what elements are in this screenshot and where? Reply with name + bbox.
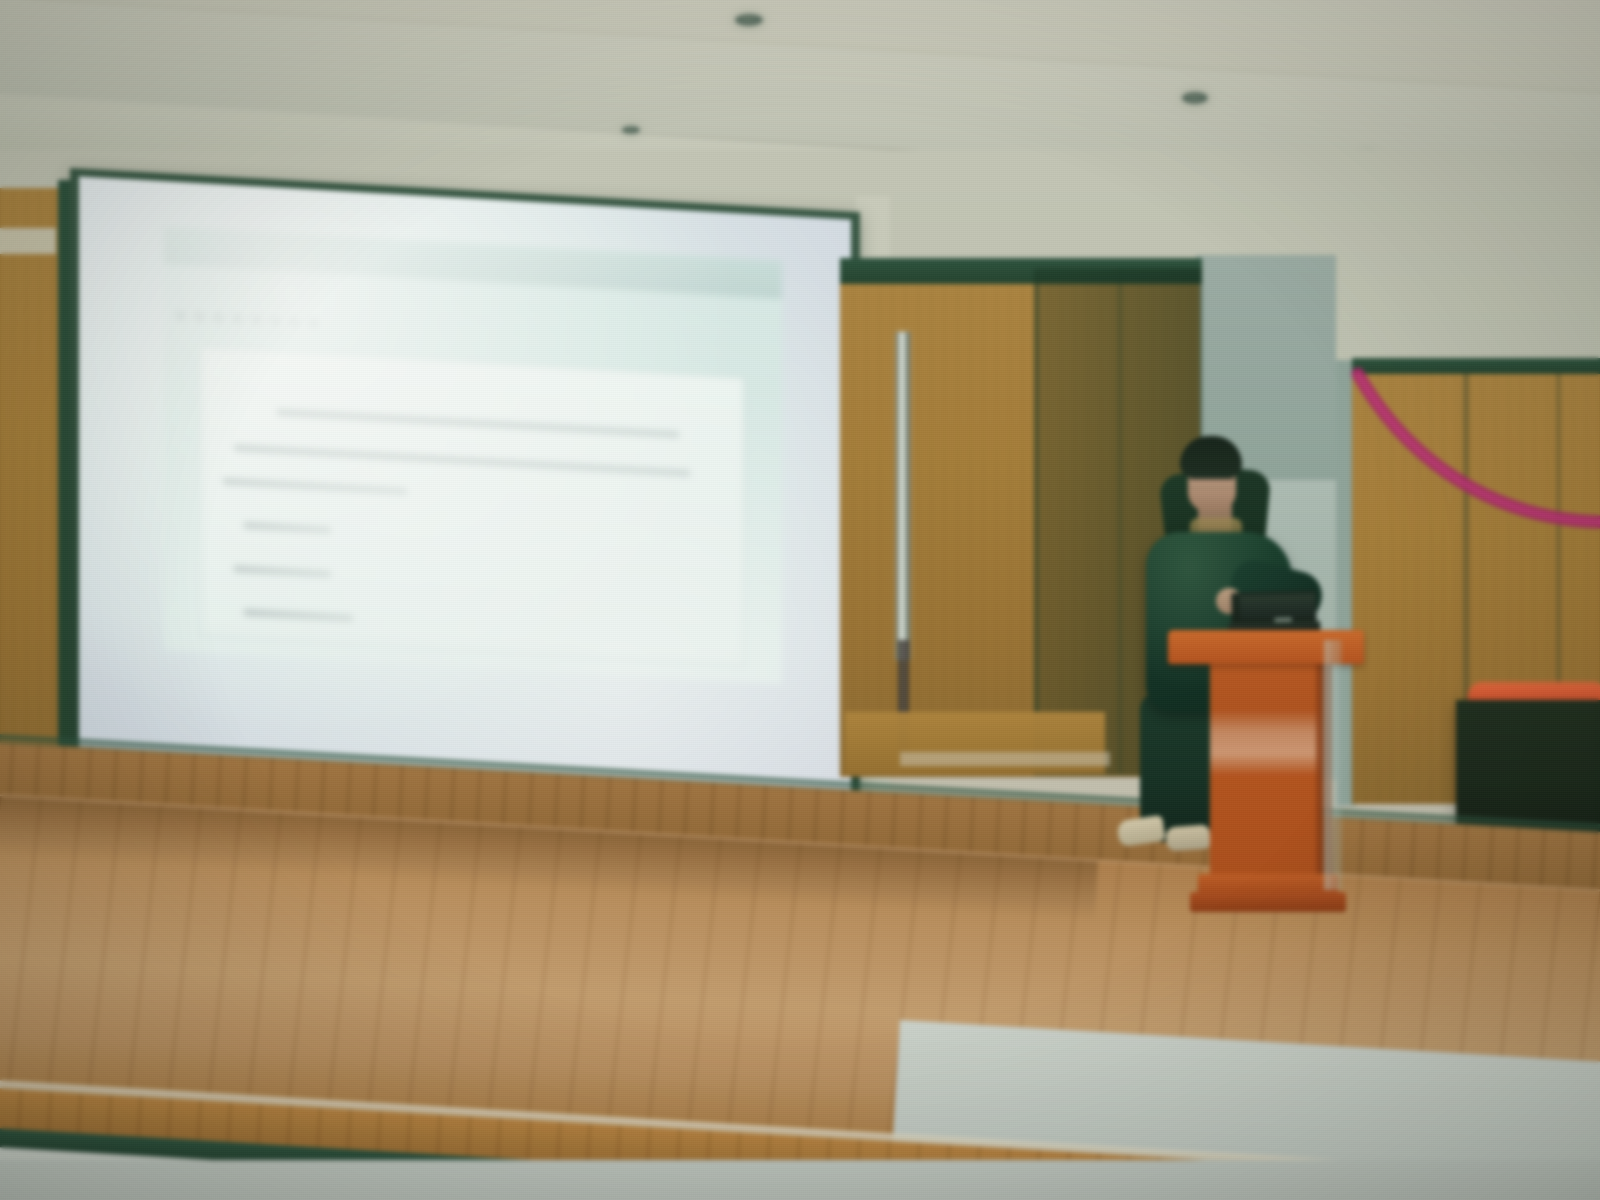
toolbar-icon: [176, 311, 185, 321]
toolbar-icon: [271, 317, 280, 327]
toolbar-icon: [214, 313, 223, 323]
garland-decoration: [1356, 372, 1600, 542]
plinth-light-strip: [900, 752, 1110, 766]
downlight-icon: [1182, 92, 1208, 104]
projected-app-window: [164, 226, 782, 684]
toolbar-icon: [233, 314, 242, 324]
lectern-base-lower: [1190, 892, 1346, 912]
glasses-icon: [1189, 478, 1235, 488]
presenter-hair: [1180, 436, 1242, 478]
downlight-icon: [735, 14, 763, 26]
document-text-line: [223, 478, 408, 495]
presenter-shoe-left: [1116, 815, 1165, 847]
wood-panel-left: [0, 188, 60, 818]
toolbar-icon: [252, 316, 261, 326]
projected-document-page: [201, 347, 744, 666]
wall-slot-upper-left: [0, 228, 56, 254]
lectern-glass-panel: [1324, 640, 1342, 890]
toolbar-icon: [309, 319, 318, 329]
downlight-icon: [622, 126, 640, 134]
laptop-screen: [1240, 594, 1317, 620]
hall-floor-foreground: [0, 1160, 1600, 1200]
toolbar-icon: [290, 318, 299, 328]
document-text-line: [244, 522, 331, 534]
green-trim-left: [58, 180, 70, 828]
document-text-line: [234, 444, 691, 477]
lectern-body: [1210, 662, 1322, 880]
wood-panel-seam: [1034, 272, 1039, 772]
toolbar-icon: [195, 312, 204, 322]
document-text-line: [234, 565, 332, 577]
document-text-line: [277, 409, 679, 438]
auditorium-photo: [0, 0, 1600, 1200]
lectern: [1168, 630, 1364, 912]
laptop-highlight: [1274, 618, 1292, 622]
document-text-line: [244, 609, 353, 622]
metal-pilaster-strip: [896, 332, 910, 660]
